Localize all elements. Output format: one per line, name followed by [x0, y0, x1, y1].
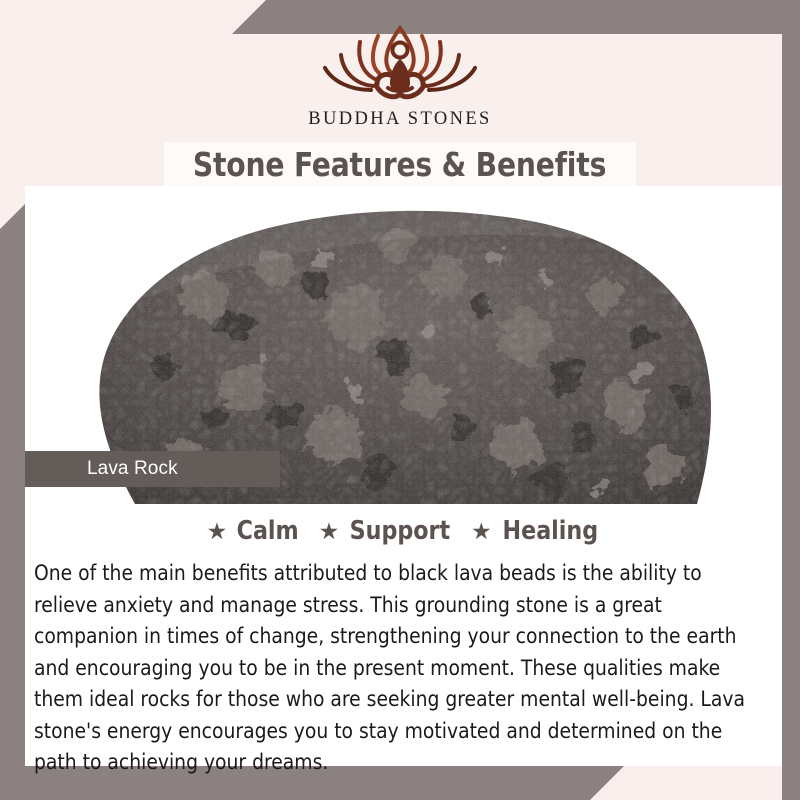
- brand-logo: BUDDHA STONES: [0, 20, 800, 130]
- brand-wordmark: BUDDHA STONES: [0, 109, 800, 130]
- benefit-label: Healing: [502, 516, 598, 546]
- photo-caption-bar: Lava Rock: [25, 451, 280, 487]
- benefits-row: ★ Calm ★ Support ★ Healing: [25, 516, 782, 546]
- benefit-label: Calm: [237, 516, 299, 546]
- star-icon: ★: [471, 520, 492, 543]
- star-icon: ★: [207, 520, 228, 543]
- benefit-label: Support: [350, 516, 451, 546]
- benefit-item-support: ★ Support: [319, 516, 453, 546]
- photo-caption-text: Lava Rock: [25, 458, 178, 480]
- star-icon: ★: [319, 520, 340, 543]
- benefit-item-calm: ★ Calm: [207, 516, 301, 546]
- benefit-item-healing: ★ Healing: [471, 516, 600, 546]
- description-paragraph: One of the main benefits attributed to b…: [34, 558, 754, 779]
- poster-root: BUDDHA STONES Stone Features & Benefits: [0, 0, 800, 800]
- header: BUDDHA STONES Stone Features & Benefits: [0, 0, 800, 196]
- lotus-meditation-icon: [305, 20, 495, 106]
- page-title: Stone Features & Benefits: [193, 145, 606, 184]
- frame-band-left: [0, 203, 26, 800]
- content-card: Lava Rock ★ Calm ★ Support ★ Healing One…: [25, 186, 782, 766]
- title-banner: Stone Features & Benefits: [164, 142, 636, 186]
